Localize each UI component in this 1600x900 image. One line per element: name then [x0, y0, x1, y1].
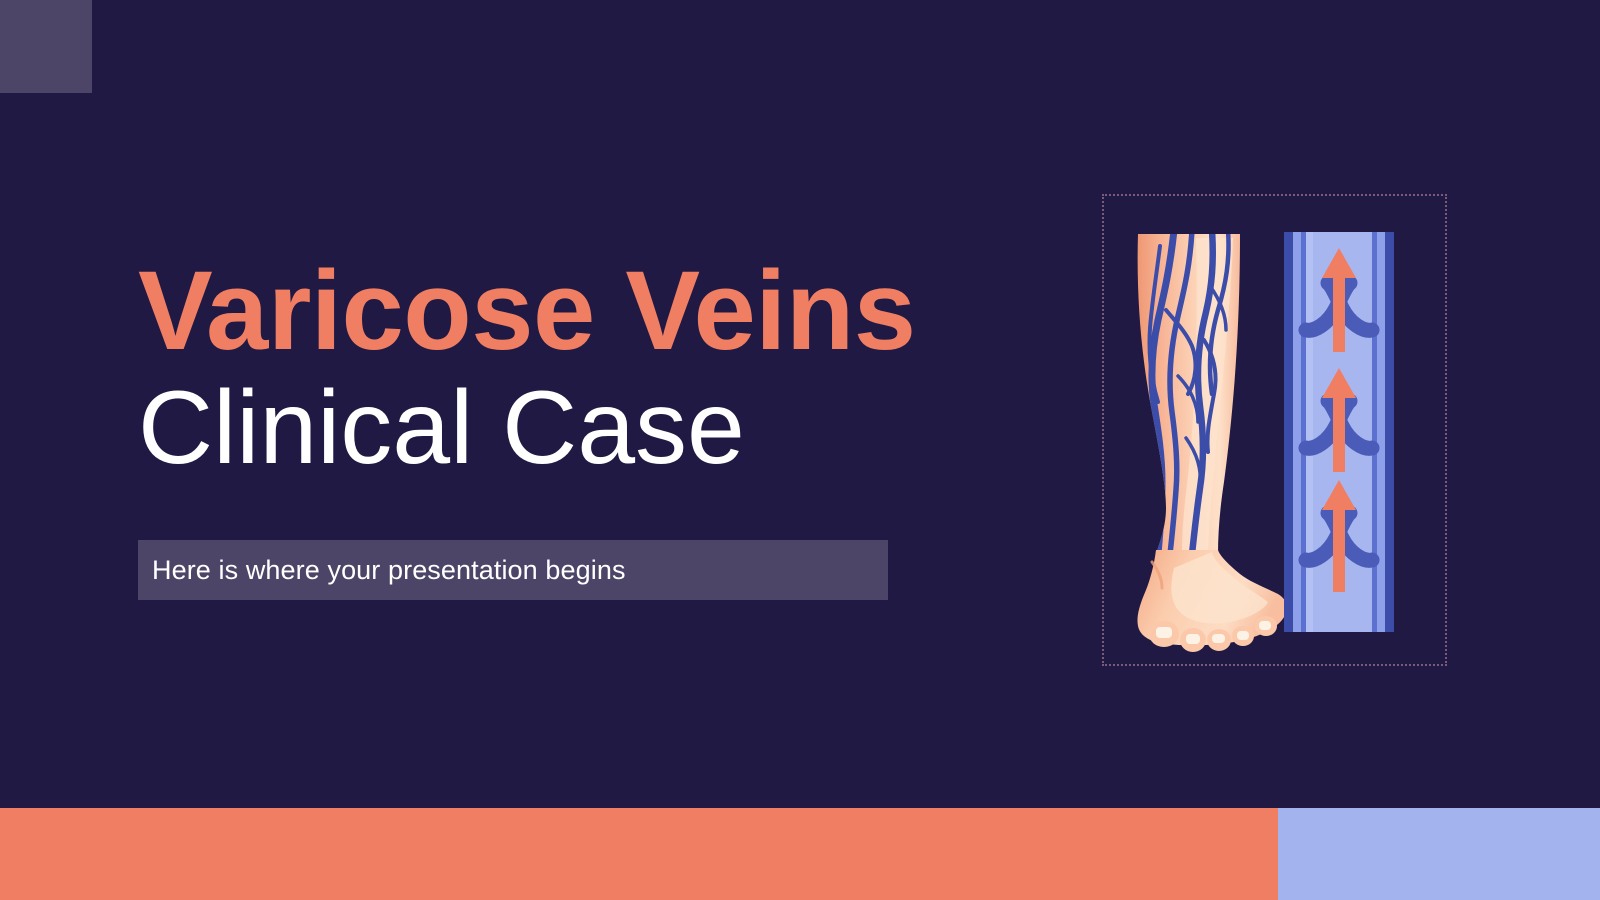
leg-graphic: [1137, 230, 1286, 652]
subtitle-box: Here is where your presentation begins: [138, 540, 888, 600]
page-title-secondary: Clinical Case: [138, 370, 1058, 486]
bottom-bar-coral-segment: [0, 808, 1278, 900]
bottom-color-bar: [0, 808, 1600, 900]
varicose-veins-illustration: [1100, 190, 1450, 670]
presentation-slide: Varicose Veins Clinical Case Here is whe…: [0, 0, 1600, 900]
bottom-bar-periwinkle-segment: [1278, 808, 1600, 900]
title-block: Varicose Veins Clinical Case: [138, 252, 1058, 486]
vein-cross-section-graphic: [1284, 232, 1394, 632]
page-title-primary: Varicose Veins: [138, 252, 1058, 370]
corner-accent-square: [0, 0, 92, 93]
subtitle-text: Here is where your presentation begins: [138, 555, 626, 586]
